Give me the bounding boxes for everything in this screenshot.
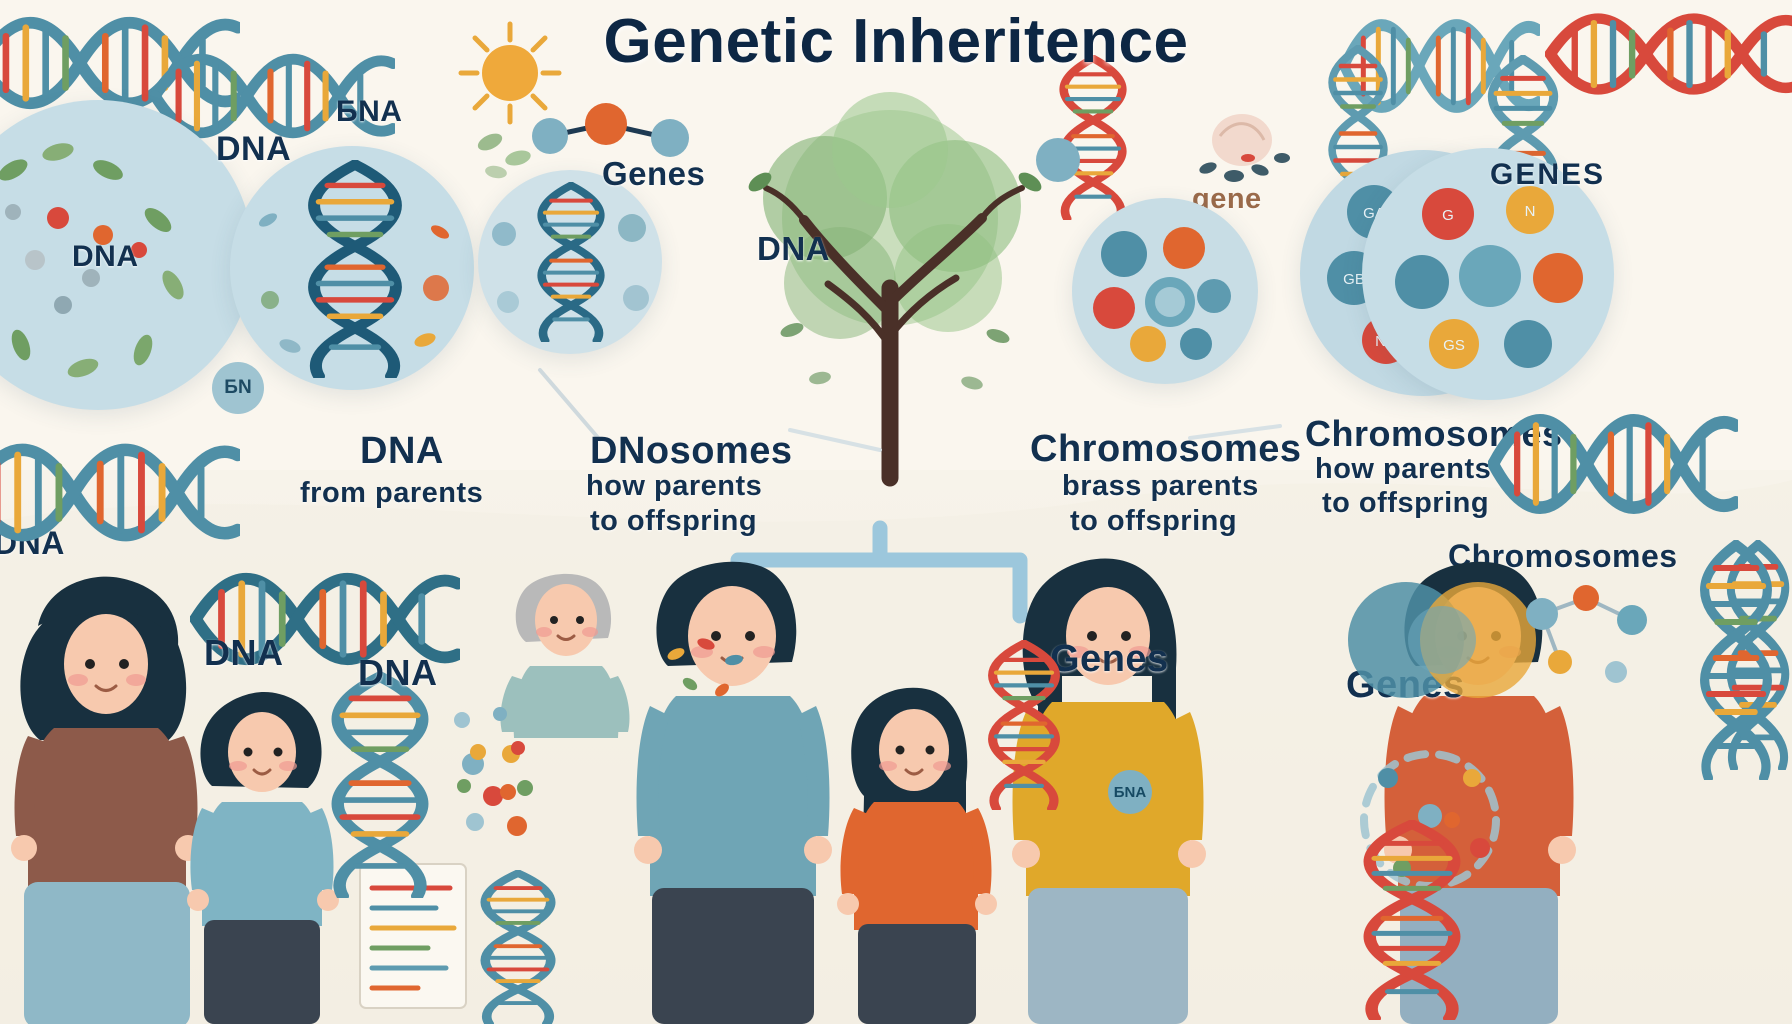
caption-chromosomes-right-line2: to offspring [1322,487,1489,520]
dna-helix-icon [470,870,566,1024]
label-dna-tree: DNA [757,230,830,268]
caption-chromosomes-mid-line1: brass parents [1062,470,1259,503]
person-daughter [838,686,998,1024]
dna-helix-icon [0,430,240,555]
infographic-canvas: DNA Genes [0,0,1792,1024]
person-child-left [188,690,338,1024]
cell-decorations-icon [486,186,656,341]
confetti-decoration-icon [442,700,552,820]
badge-dot-small [1036,138,1080,182]
label-dna-garbled-top: БNA [336,95,402,129]
cell-nucleus-icon [1190,110,1300,190]
dna-helix-icon [1545,2,1792,106]
person-father [632,556,842,1024]
molecule-chain-icon [1520,580,1680,700]
dna-helix-icon [318,672,442,898]
label-dna-people-1: DNA [204,632,284,674]
caption-chromosomes-mid-line2: to offspring [1070,505,1237,538]
label-genes-top-center: Genes [602,155,705,193]
svg-text:G: G [1442,207,1454,224]
page-title: Genetic Inheritence [604,6,1189,77]
caption-dnosomes-line1: how parents [586,470,762,503]
caption-dnosomes-title: DNosomes [590,430,793,473]
badge-dna-child-text: БNA [1114,784,1146,801]
caption-chromosomes-mid-title: Chromosomes [1030,428,1302,471]
dna-helix-icon [1350,820,1474,1020]
label-dna-people-2: DNA [358,652,438,694]
dna-helix-icon [1488,400,1738,528]
caption-chromosomes-right-line1: how parents [1315,453,1491,486]
badge-dna-child: БNA [1108,770,1152,814]
caption-dna-from-parents-line1: from parents [300,477,483,510]
person-mother-left [10,560,210,1024]
label-dna-top-left: DNA [216,130,291,169]
label-genes-top-right: GENES [1490,158,1605,192]
dna-helix-icon [978,640,1070,810]
dna-helix-icon [1690,540,1782,780]
confetti-decoration-icon [660,628,780,718]
label-dna-in-circle: DNA [72,240,139,274]
caption-dna-from-parents-title: DNA [360,430,444,473]
svg-text:N: N [1525,203,1536,220]
